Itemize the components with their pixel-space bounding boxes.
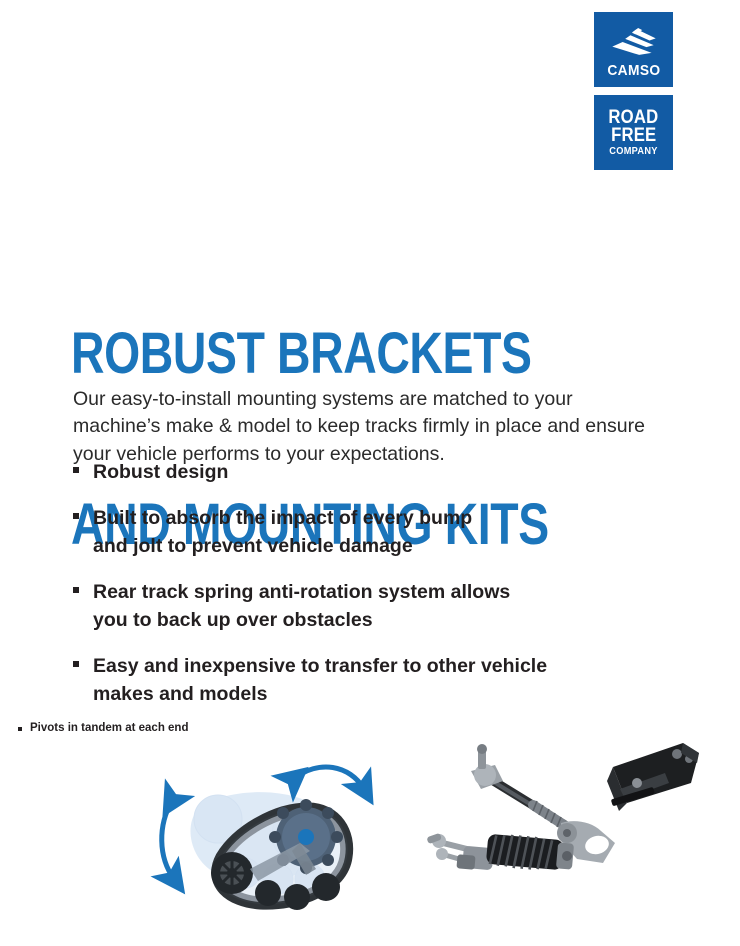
brand-logo-stack: CAMSO ROAD FREE COMPANY [594, 12, 673, 170]
square-bullet-icon [73, 504, 93, 519]
list-item: Rear track spring anti-rotation system a… [73, 578, 673, 634]
list-item: Easy and inexpensive to transfer to othe… [73, 652, 673, 708]
figure-caption-label: Pivots in tandem at each end [30, 721, 188, 736]
figure-zone [0, 737, 740, 946]
list-item-label: Rear track spring anti-rotation system a… [93, 578, 510, 634]
list-item-label: Robust design [93, 458, 228, 486]
feature-list: Robust design Built to absorb the impact… [73, 458, 673, 708]
square-bullet-icon [18, 721, 30, 731]
camso-chevron-mark [608, 27, 660, 57]
list-item: Built to absorb the impact of every bump… [73, 504, 673, 560]
square-bullet-icon [73, 578, 93, 593]
road-free-line-3: COMPANY [609, 146, 657, 156]
camso-wordmark: CAMSO [607, 63, 660, 78]
road-free-company-logo-box: ROAD FREE COMPANY [594, 95, 673, 170]
figure-caption: Pivots in tandem at each end [18, 721, 188, 736]
page-title-line-1: ROBUST BRACKETS [71, 325, 549, 382]
square-bullet-icon [73, 458, 93, 473]
rubber-track-undercarriage-diagram [150, 747, 400, 937]
square-bullet-icon [73, 652, 93, 667]
list-item-label: Easy and inexpensive to transfer to othe… [93, 652, 547, 708]
list-item-label: Built to absorb the impact of every bump… [93, 504, 472, 560]
list-item: Robust design [73, 458, 673, 486]
mounting-bracket-hardware-photo [415, 737, 705, 917]
camso-logo-box: CAMSO [594, 12, 673, 87]
road-free-line-2: FREE [611, 127, 656, 145]
intro-paragraph: Our easy-to-install mounting systems are… [73, 386, 653, 469]
